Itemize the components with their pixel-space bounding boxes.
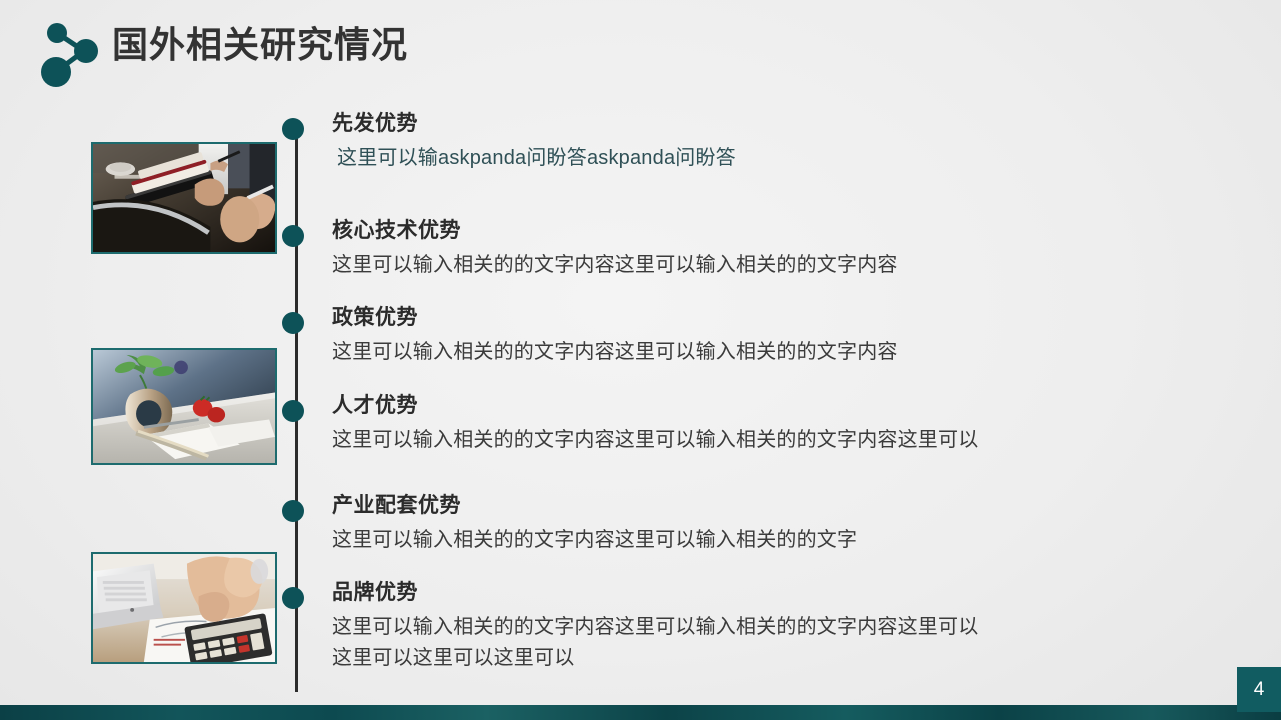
timeline-dot-icon <box>282 118 304 140</box>
timeline-item-text: 这里可以输入相关的的文字内容这里可以输入相关的的文字 <box>332 525 1212 556</box>
slide-root: 国外相关研究情况 <box>0 0 1281 720</box>
timeline-item-text: 这里可以输入相关的的文字内容这里可以输入相关的的文字内容这里可以 这里可以这里可… <box>332 612 1212 674</box>
timeline-dot-icon <box>282 400 304 422</box>
timeline-item-body: 政策优势 这里可以输入相关的的文字内容这里可以输入相关的的文字内容 <box>332 304 1212 368</box>
timeline-dot-icon <box>282 500 304 522</box>
slide-header: 国外相关研究情况 <box>0 0 1281 100</box>
timeline-item-body: 人才优势 这里可以输入相关的的文字内容这里可以输入相关的的文字内容这里可以 <box>332 392 1212 456</box>
timeline-dot-icon <box>282 225 304 247</box>
timeline-item-heading: 人才优势 <box>332 392 1212 420</box>
timeline-item-heading: 先发优势 <box>332 110 1212 138</box>
timeline-dot-icon <box>282 587 304 609</box>
timeline-item-text: 这里可以输入相关的的文字内容这里可以输入相关的的文字内容这里可以 <box>332 425 1212 456</box>
timeline-item-heading: 政策优势 <box>332 304 1212 332</box>
network-share-icon <box>34 16 108 90</box>
timeline-item-body: 先发优势 这里可以输askpanda问盼答askpanda问盼答 <box>332 110 1212 174</box>
photo-vase-notebook <box>91 348 277 465</box>
timeline-dot-icon <box>282 312 304 334</box>
photo-meeting-notes <box>91 142 277 254</box>
timeline-item-heading: 产业配套优势 <box>332 492 1212 520</box>
timeline-item-text: 这里可以输入相关的的文字内容这里可以输入相关的的文字内容 <box>332 250 1212 281</box>
timeline-item-body: 品牌优势 这里可以输入相关的的文字内容这里可以输入相关的的文字内容这里可以 这里… <box>332 579 1212 674</box>
page-title: 国外相关研究情况 <box>112 19 408 71</box>
footer-bar <box>0 705 1281 720</box>
photo-laptop-calculator <box>91 552 277 664</box>
timeline-item-text: 这里可以输入相关的的文字内容这里可以输入相关的的文字内容 <box>332 337 1212 368</box>
timeline-item-body: 核心技术优势 这里可以输入相关的的文字内容这里可以输入相关的的文字内容 <box>332 217 1212 281</box>
timeline-item-heading: 核心技术优势 <box>332 217 1212 245</box>
page-number-badge: 4 <box>1237 667 1281 712</box>
timeline-item-body: 产业配套优势 这里可以输入相关的的文字内容这里可以输入相关的的文字 <box>332 492 1212 556</box>
timeline-item-text: 这里可以输askpanda问盼答askpanda问盼答 <box>337 143 1212 174</box>
timeline-item-heading: 品牌优势 <box>332 579 1212 607</box>
